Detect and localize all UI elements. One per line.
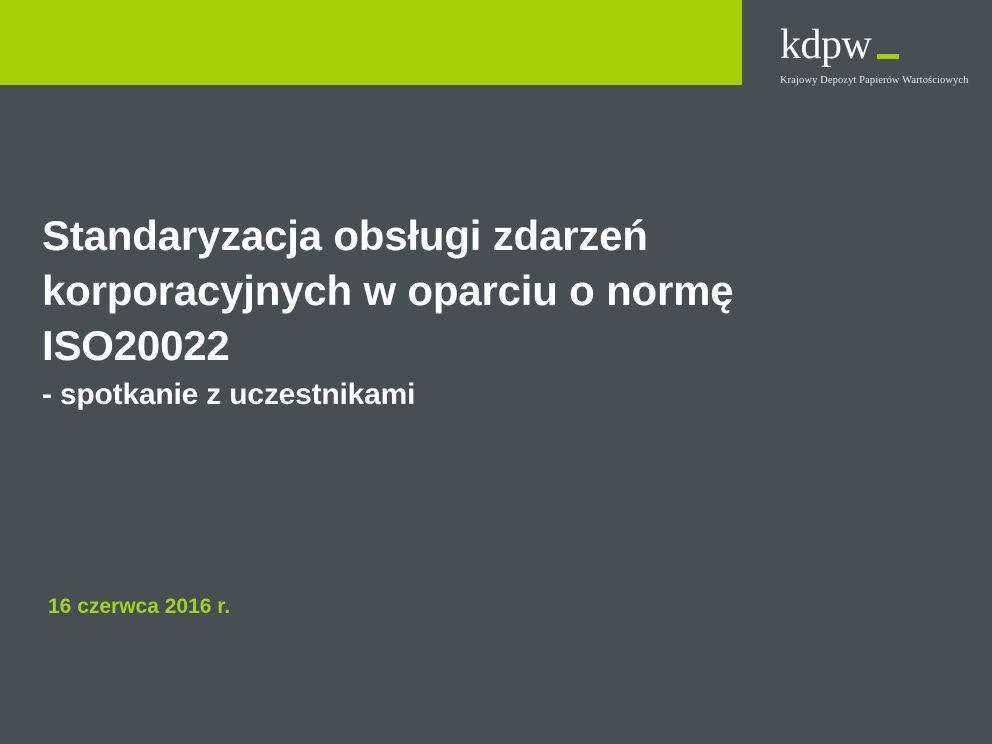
title-line-1: Standaryzacja obsługi zdarzeń bbox=[42, 208, 802, 263]
title-line-3: ISO20022 bbox=[42, 318, 802, 373]
title-line-2: korporacyjnych w oparciu o normę bbox=[42, 263, 802, 318]
title-slide: kdpw Krajowy Depozyt Papierów Wartościow… bbox=[0, 0, 992, 744]
slide-title-block: Standaryzacja obsługi zdarzeń korporacyj… bbox=[42, 208, 802, 415]
slide-subtitle: - spotkanie z uczestnikami bbox=[42, 375, 802, 415]
slide-date: 16 czerwca 2016 r. bbox=[48, 594, 230, 620]
green-dash-icon bbox=[877, 54, 899, 59]
top-accent-band bbox=[0, 0, 742, 85]
logo-wordmark-row: kdpw bbox=[780, 22, 980, 66]
kdpw-logo[interactable]: kdpw Krajowy Depozyt Papierów Wartościow… bbox=[780, 22, 980, 87]
logo-tagline: Krajowy Depozyt Papierów Wartościowych bbox=[780, 75, 980, 87]
logo-wordmark-text: kdpw bbox=[780, 24, 871, 66]
